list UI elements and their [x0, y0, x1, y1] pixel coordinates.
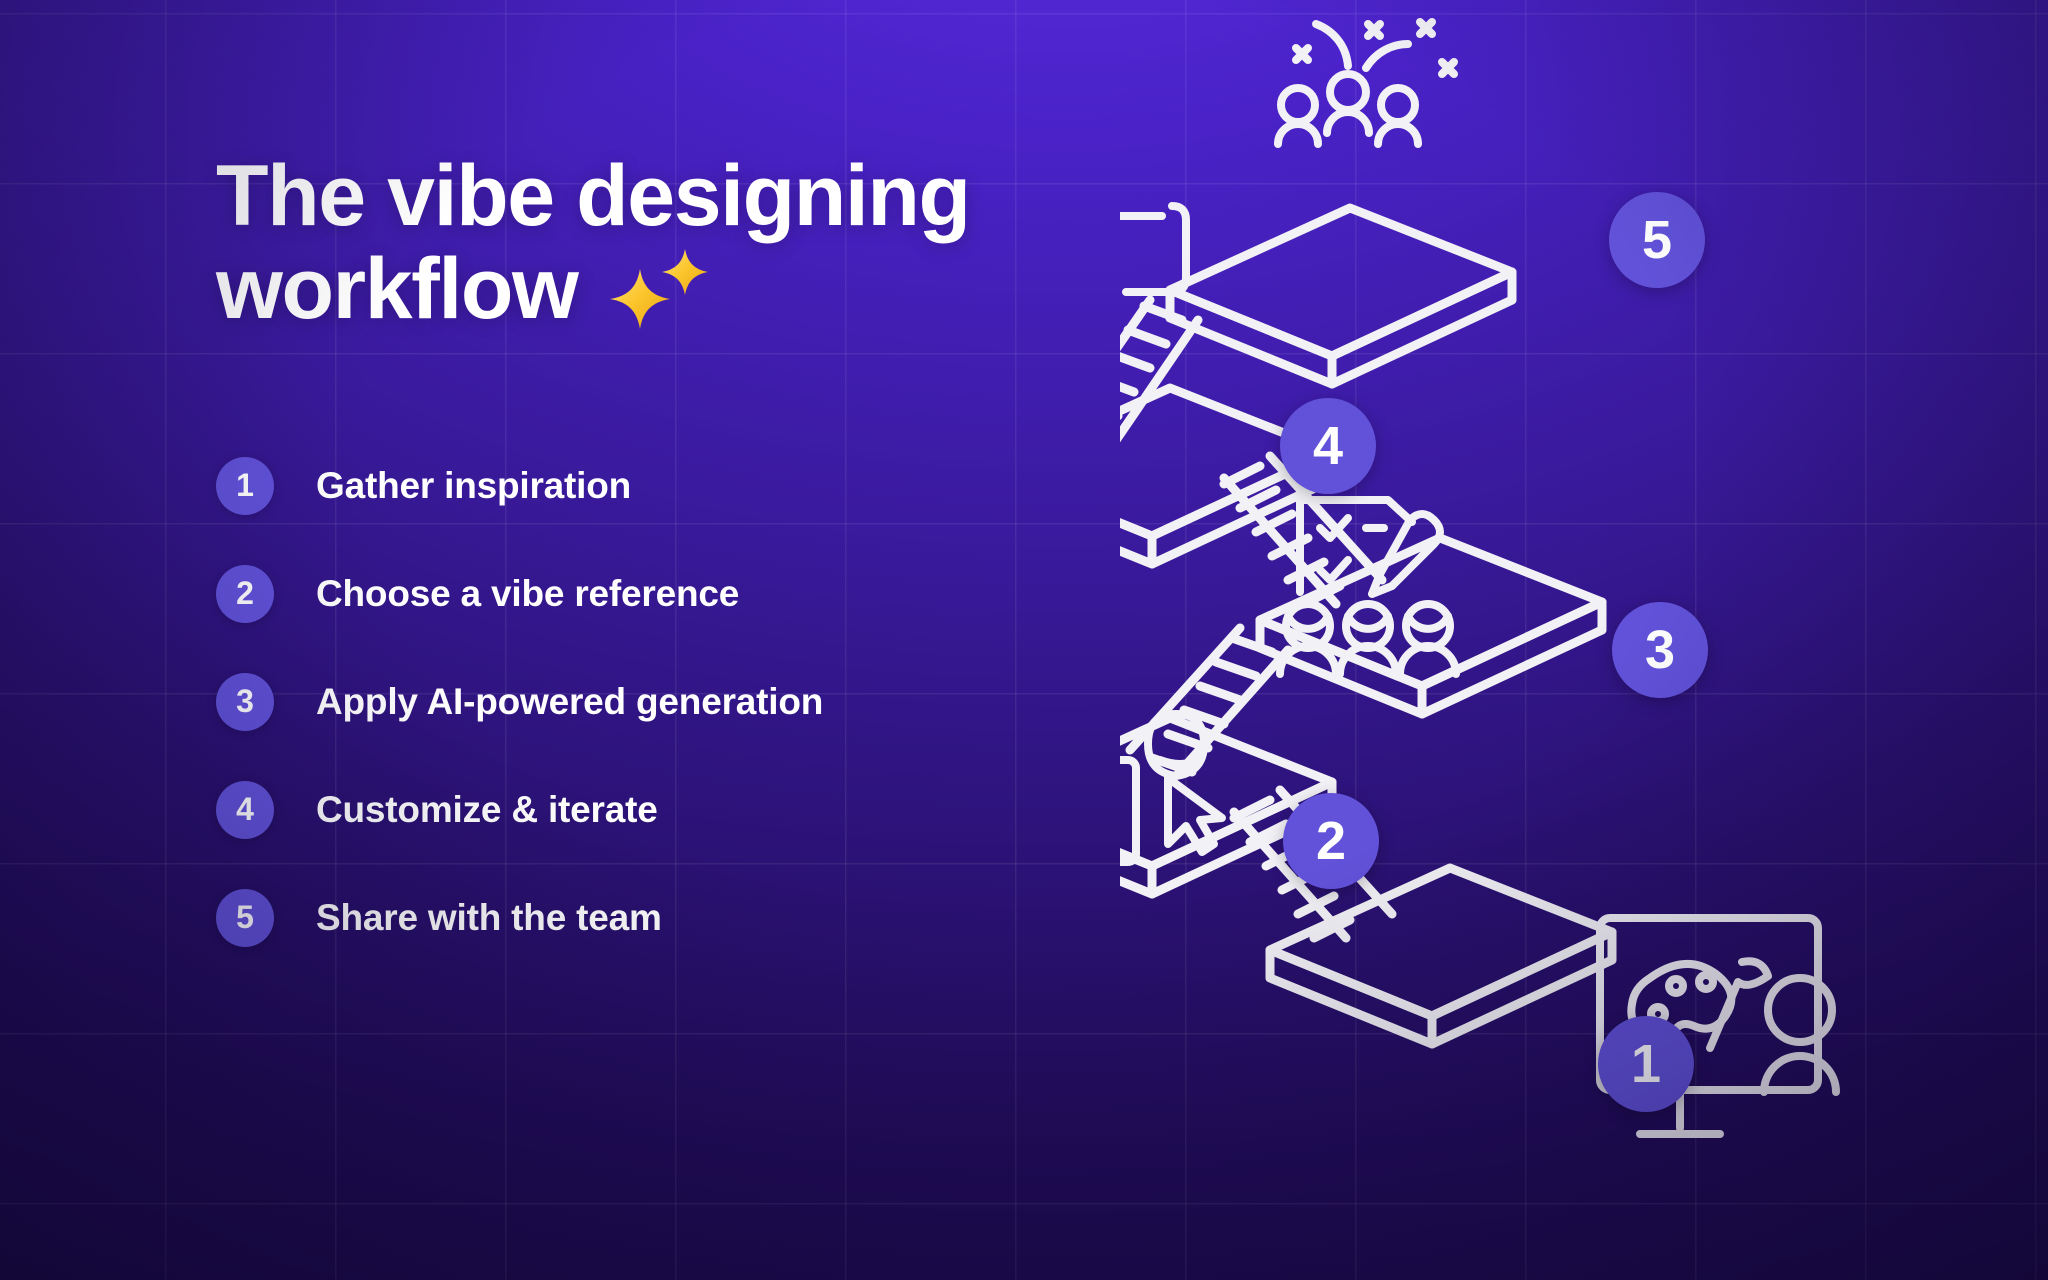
step-badge: 1 [216, 457, 274, 515]
page-title: The vibe designing workflow [216, 150, 1176, 336]
node-badge-3[interactable]: 3 [1612, 602, 1708, 698]
sparkles-icon [603, 246, 721, 332]
node-badge-1[interactable]: 1 [1598, 1016, 1694, 1112]
step-badge: 5 [216, 889, 274, 947]
step-label: Apply AI-powered generation [316, 681, 823, 723]
list-item[interactable]: 5 Share with the team [216, 864, 1176, 972]
step-badge: 2 [216, 565, 274, 623]
list-item[interactable]: 2 Choose a vibe reference [216, 540, 1176, 648]
node-badge-2[interactable]: 2 [1283, 793, 1379, 889]
platform-1 [1270, 868, 1612, 1044]
poster-canvas: The vibe designing workflow [0, 0, 2048, 1280]
step-badge: 3 [216, 673, 274, 731]
team-celebration-confetti-icon [1278, 22, 1454, 144]
node-badge-5[interactable]: 5 [1609, 192, 1705, 288]
title-line-2-row: workflow [216, 243, 1176, 336]
list-item[interactable]: 3 Apply AI-powered generation [216, 648, 1176, 756]
left-content-column: The vibe designing workflow [216, 150, 1176, 972]
title-line-2: workflow [216, 243, 577, 336]
list-item[interactable]: 4 Customize & iterate [216, 756, 1176, 864]
title-line-1: The vibe designing [216, 150, 1176, 243]
list-item[interactable]: 1 Gather inspiration [216, 432, 1176, 540]
step-label: Choose a vibe reference [316, 573, 739, 615]
step-label: Gather inspiration [316, 465, 631, 507]
steps-list: 1 Gather inspiration 2 Choose a vibe ref… [216, 432, 1176, 972]
staircase-illustration [1120, 0, 2048, 1280]
step-badge: 4 [216, 781, 274, 839]
platform-5 [1170, 208, 1512, 384]
node-badge-4[interactable]: 4 [1280, 398, 1376, 494]
step-label: Customize & iterate [316, 789, 658, 831]
checklist-pencil-team-icon [1280, 500, 1456, 674]
step-label: Share with the team [316, 897, 662, 939]
